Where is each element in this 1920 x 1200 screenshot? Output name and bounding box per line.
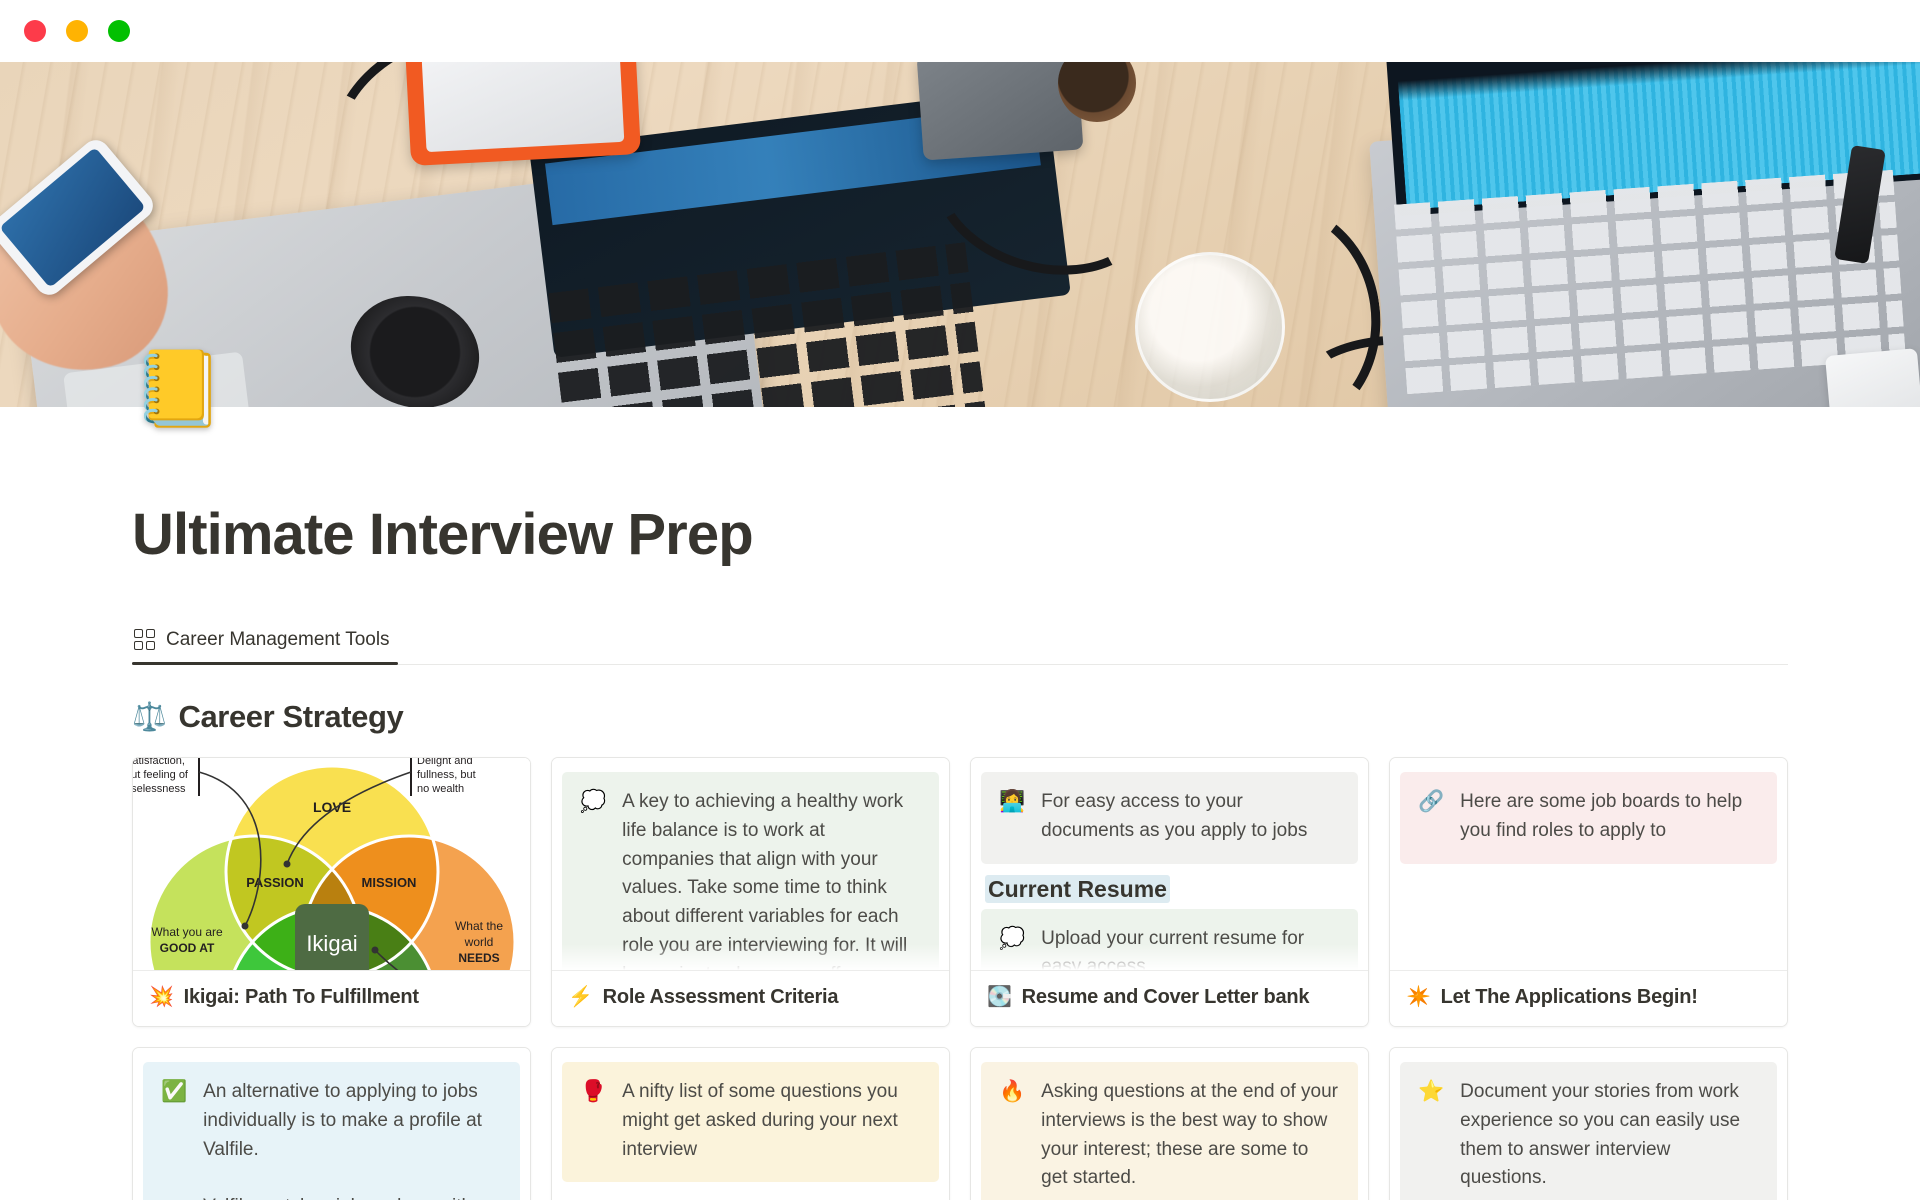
card-preview: Ikigai LOVE PASSION MISSION PROFESSION V… xyxy=(133,758,530,970)
callout-block: 💭 A key to achieving a healthy work life… xyxy=(562,772,939,970)
card-preview: 💭 A key to achieving a healthy work life… xyxy=(552,758,949,970)
sub-heading-text: Current Resume xyxy=(985,875,1170,903)
card-title: Ikigai: Path To Fulfillment xyxy=(184,986,419,1009)
callout-text: For easy access to your documents as you… xyxy=(1041,788,1340,846)
card-grid: Ikigai LOVE PASSION MISSION PROFESSION V… xyxy=(0,757,1920,1200)
venn-note-right-1: Delight and xyxy=(417,758,473,767)
card-role-assessment-criteria[interactable]: 💭 A key to achieving a healthy work life… xyxy=(551,757,950,1027)
thought-balloon-icon: 💭 xyxy=(999,925,1025,970)
page-title: Ultimate Interview Prep xyxy=(0,503,1920,567)
tab-bar: Career Management Tools xyxy=(0,629,1920,665)
venn-note-right-3: no wealth xyxy=(417,783,464,795)
callout-block: ✅ An alternative to applying to jobs ind… xyxy=(143,1062,520,1200)
fire-icon: 🔥 xyxy=(999,1078,1025,1194)
callout-text: An alternative to applying to jobs indiv… xyxy=(203,1078,502,1200)
card-ikigai[interactable]: Ikigai LOVE PASSION MISSION PROFESSION V… xyxy=(132,757,531,1027)
card-preview: ⭐ Document your stories from work experi… xyxy=(1390,1048,1787,1200)
woman-technologist-icon: 👩‍💻 xyxy=(999,788,1025,846)
callout-block: 🥊 A nifty list of some questions you mig… xyxy=(562,1062,939,1183)
zoom-button[interactable] xyxy=(108,20,130,42)
venn-label-needs-2: world xyxy=(463,935,493,949)
card-preview: 🔥 Asking questions at the end of your in… xyxy=(971,1048,1368,1200)
collision-icon: 💥 xyxy=(149,987,174,1007)
callout-paragraph-1: An alternative to applying to jobs indiv… xyxy=(203,1081,482,1160)
card-resume-and-cover-letter-bank[interactable]: 👩‍💻 For easy access to your documents as… xyxy=(970,757,1369,1027)
venn-label-needs-3: NEEDS xyxy=(458,951,499,965)
cover-image[interactable] xyxy=(0,62,1920,407)
link-icon: 🔗 xyxy=(1418,788,1444,846)
callout-block: 👩‍💻 For easy access to your documents as… xyxy=(981,772,1358,864)
card-title-row: ✴️ Let The Applications Begin! xyxy=(1390,970,1787,1026)
page-icon[interactable]: 📒 xyxy=(132,352,224,426)
thought-balloon-icon: 💭 xyxy=(580,788,606,970)
eight-pointed-star-icon: ✴️ xyxy=(1406,987,1431,1007)
ikigai-venn-diagram: Ikigai LOVE PASSION MISSION PROFESSION V… xyxy=(133,758,530,970)
venn-label-mission: MISSION xyxy=(361,875,416,890)
card-title-row: 💽 Resume and Cover Letter bank xyxy=(971,970,1368,1026)
card-work-stories[interactable]: ⭐ Document your stories from work experi… xyxy=(1389,1047,1788,1200)
venn-label-passion: PASSION xyxy=(246,875,304,890)
boxing-glove-icon: 🥊 xyxy=(580,1078,606,1165)
card-title-row: 💥 Ikigai: Path To Fulfillment xyxy=(133,970,530,1026)
callout-block: 🔥 Asking questions at the end of your in… xyxy=(981,1062,1358,1200)
callout-text: Document your stories from work experien… xyxy=(1460,1078,1759,1194)
callout-block: 🔗 Here are some job boards to help you f… xyxy=(1400,772,1777,864)
card-preview: 🥊 A nifty list of some questions you mig… xyxy=(552,1048,949,1200)
card-title-row: ⚡ Role Assessment Criteria xyxy=(552,970,949,1026)
card-valfile[interactable]: ✅ An alternative to applying to jobs ind… xyxy=(132,1047,531,1200)
grid-icon xyxy=(134,629,155,650)
venn-note-right-2: fullness, but xyxy=(417,769,476,781)
venn-note-left-2: but feeling of xyxy=(133,769,188,781)
orange-external-drive xyxy=(405,62,641,166)
tab-label: Career Management Tools xyxy=(166,629,390,651)
callout-block: ⭐ Document your stories from work experi… xyxy=(1400,1062,1777,1200)
check-mark-button-icon: ✅ xyxy=(161,1078,187,1200)
callout-text: Here are some job boards to help you fin… xyxy=(1460,788,1759,846)
card-questions-to-ask[interactable]: 🔥 Asking questions at the end of your in… xyxy=(970,1047,1369,1200)
venn-label-needs-1: What the xyxy=(454,919,502,933)
venn-label-goodat-1: What you are xyxy=(151,925,223,939)
card-let-the-applications-begin[interactable]: 🔗 Here are some job boards to help you f… xyxy=(1389,757,1788,1027)
card-common-interview-questions[interactable]: 🥊 A nifty list of some questions you mig… xyxy=(551,1047,950,1200)
venn-note-left-1: Satisfaction, xyxy=(133,758,184,767)
tab-career-management-tools[interactable]: Career Management Tools xyxy=(132,629,398,665)
card-preview: ✅ An alternative to applying to jobs ind… xyxy=(133,1048,530,1200)
callout-text: Asking questions at the end of your inte… xyxy=(1041,1078,1340,1194)
page-content: Ultimate Interview Prep Career Managemen… xyxy=(0,503,1920,1200)
card-title: Let The Applications Begin! xyxy=(1441,986,1698,1009)
section-title: Career Strategy xyxy=(178,699,403,735)
callout-text: A nifty list of some questions you might… xyxy=(622,1078,921,1165)
venn-note-left-3: uselessness xyxy=(133,783,186,795)
scales-icon: ⚖️ xyxy=(132,703,166,731)
usb-hub xyxy=(1825,348,1920,407)
callout-block-2: 💭 Upload your current resume for easy ac… xyxy=(981,909,1358,970)
cover-photo-desk-workspace xyxy=(0,62,1920,407)
callout-text: A key to achieving a healthy work life b… xyxy=(622,788,921,970)
window-controls xyxy=(24,20,130,42)
minimize-button[interactable] xyxy=(66,20,88,42)
star-icon: ⭐ xyxy=(1418,1078,1444,1194)
card-preview: 👩‍💻 For easy access to your documents as… xyxy=(971,758,1368,970)
section-heading-career-strategy: ⚖️ Career Strategy xyxy=(0,699,1920,735)
card-title: Role Assessment Criteria xyxy=(603,986,839,1009)
high-voltage-icon: ⚡ xyxy=(568,987,593,1007)
computer-disk-icon: 💽 xyxy=(987,987,1012,1007)
venn-center-label: Ikigai xyxy=(306,931,357,956)
card-title: Resume and Cover Letter bank xyxy=(1022,986,1310,1009)
callout-text-2: Upload your current resume for easy acce… xyxy=(1041,925,1340,970)
card-preview: 🔗 Here are some job boards to help you f… xyxy=(1390,758,1787,970)
close-button[interactable] xyxy=(24,20,46,42)
venn-svg: Ikigai LOVE PASSION MISSION PROFESSION V… xyxy=(133,758,530,970)
venn-label-goodat-2: GOOD AT xyxy=(159,941,214,955)
window-titlebar xyxy=(0,0,1920,62)
callout-paragraph-2: Valfile matches job seekers with compani… xyxy=(203,1196,492,1200)
sub-heading-current-resume: Current Resume xyxy=(981,868,1358,909)
